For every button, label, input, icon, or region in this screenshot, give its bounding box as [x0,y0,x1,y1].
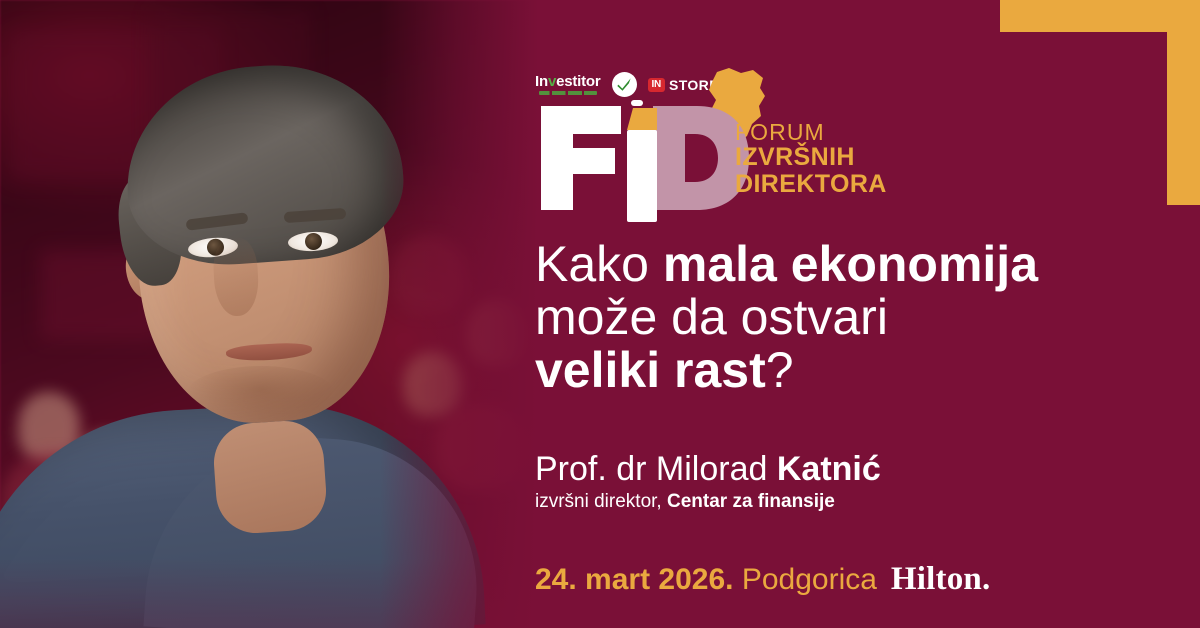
partner-logo-strip: Investitor IN STORE [535,72,719,97]
headline-line1-bold: mala ekonomija [663,236,1038,292]
headline-line3-bold: veliki rast [535,342,766,398]
investitor-tagline-bar [539,91,597,95]
investitor-wordmark: Investitor [535,74,601,89]
event-date: 24. mart 2026. [535,563,733,596]
headline-line-1: Kako mala ekonomija [535,238,1155,291]
headline: Kako mala ekonomija može da ostvari veli… [535,238,1155,397]
investitor-prefix: In [535,73,548,90]
investitor-suffix: estitor [556,73,600,90]
speaker-name-bold: Katnić [777,450,881,488]
fid-subtitle-line3: DIREKTORA [735,171,887,198]
fid-subtitle: FORUM IZVRŠNIH DIREKTORA [735,120,887,197]
venue-logo: Hilton. [891,563,991,596]
headline-line-3: veliki rast? [535,344,1155,397]
event-city: Podgorica [742,563,877,596]
speaker-name-plain: Prof. dr Milorad [535,450,777,488]
fid-subtitle-line1: FORUM [735,120,887,144]
neck [211,418,328,535]
investitor-accent-letter: v [548,73,556,90]
headline-line3-plain: ? [766,342,794,398]
headline-line1-plain: Kako [535,236,663,292]
fid-letters [535,100,765,222]
instore-in-badge: IN [648,78,665,92]
speaker-photo [0,0,560,628]
headline-line-2: može da ostvari [535,291,1155,344]
check-circle-icon [612,72,637,97]
pupil-right [305,233,323,251]
speaker-role: izvršni direktor, Centar za finansije [535,491,881,514]
fid-subtitle-line2: IZVRŠNIH [735,144,887,171]
event-details-footer: 24. mart 2026. Podgorica Hilton. [535,563,990,596]
hair [120,57,409,272]
speaker-role-org: Centar za finansije [667,491,835,512]
chin-shadow [186,366,336,424]
fid-logo-lockup: FORUM IZVRŠNIH DIREKTORA [535,100,955,222]
event-date-location: 24. mart 2026. Podgorica [535,565,877,595]
photo-right-fade [380,0,560,628]
event-promo-banner: Investitor IN STORE [0,0,1200,628]
speaker-block: Prof. dr Milorad Katnić izvršni direktor… [535,450,881,514]
speaker-name: Prof. dr Milorad Katnić [535,450,881,488]
speaker-role-plain: izvršni direktor, [535,491,667,512]
investitor-logo: Investitor [535,74,601,95]
content-column: Investitor IN STORE [535,0,1175,628]
